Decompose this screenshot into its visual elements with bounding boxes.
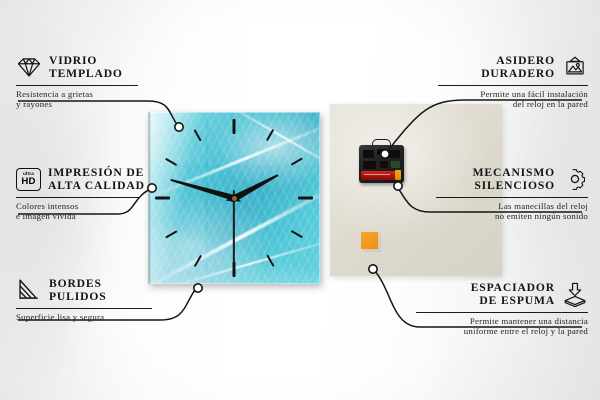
feature-subtitle-line2: uniforme entre el reloj y la pared	[416, 326, 588, 336]
feature-divider	[438, 85, 588, 86]
wire-endpoint-dot	[394, 182, 402, 190]
feature-subtitle-line1: Superficie lisa y segura	[16, 312, 166, 322]
feature-subtitle-line2: no emiten ningún sonido	[436, 211, 588, 221]
feature-subtitle: Las manecillas del reloj no emiten ningú…	[436, 201, 588, 222]
feature-title: IMPRESIÓN DE ALTA CALIDAD	[48, 166, 145, 193]
feature-title: ASIDERO DURADERO	[481, 54, 555, 81]
feature-divider	[16, 308, 152, 309]
hanging-picture-frame-icon	[562, 54, 588, 80]
feature-title-line1: BORDES	[49, 277, 107, 290]
feature-subtitle-line1: Permite mantener una distancia	[416, 316, 588, 326]
feature-title-line2: ALTA CALIDAD	[48, 179, 145, 192]
feature-subtitle: Superficie lisa y segura	[16, 312, 166, 322]
feature-bordes-pulidos: BORDES PULIDOS Superficie lisa y segura	[16, 277, 166, 322]
feature-subtitle-line2: y rayones	[16, 99, 154, 109]
feature-divider	[436, 197, 588, 198]
feature-espaciador-de-espuma: ESPACIADOR DE ESPUMA Permite mantener un…	[416, 281, 588, 337]
feature-title-line1: IMPRESIÓN DE	[48, 166, 145, 179]
feature-impresion-alta-calidad: ultra HD IMPRESIÓN DE ALTA CALIDAD Color…	[16, 166, 168, 222]
feature-subtitle: Colores intensos e imagen vívida	[16, 201, 168, 222]
feature-divider	[16, 85, 138, 86]
feature-title: ESPACIADOR DE ESPUMA	[471, 281, 555, 308]
feature-title-line2: SILENCIOSO	[473, 179, 555, 192]
feature-subtitle-line2: e imagen vívida	[16, 211, 168, 221]
gear-icon	[562, 166, 588, 192]
feature-heading: ESPACIADOR DE ESPUMA	[416, 281, 588, 308]
feature-title-line2: DE ESPUMA	[471, 294, 555, 307]
diagonal-lines-icon	[16, 277, 42, 303]
infographic-canvas: VIDRIO TEMPLADO Resistencia a grietas y …	[0, 0, 600, 400]
feature-subtitle-line1: Permite una fácil instalación	[438, 89, 588, 99]
feature-heading: VIDRIO TEMPLADO	[16, 54, 154, 81]
diamond-icon	[16, 54, 42, 80]
feature-title: BORDES PULIDOS	[49, 277, 107, 304]
feature-title-line2: PULIDOS	[49, 290, 107, 303]
feature-subtitle-line1: Las manecillas del reloj	[436, 201, 588, 211]
arrow-into-stack-icon	[562, 281, 588, 307]
wire-endpoint-dot	[369, 265, 377, 273]
wire-endpoint-dot	[175, 123, 183, 131]
feature-subtitle-line2: del reloj en la pared	[438, 99, 588, 109]
feature-subtitle: Permite mantener una distancia uniforme …	[416, 316, 588, 337]
feature-title: VIDRIO TEMPLADO	[49, 54, 123, 81]
feature-heading: MECANISMO SILENCIOSO	[436, 166, 588, 193]
feature-mecanismo-silencioso: MECANISMO SILENCIOSO Las manecillas del …	[436, 166, 588, 222]
feature-divider	[16, 197, 140, 198]
feature-heading: BORDES PULIDOS	[16, 277, 166, 304]
feature-subtitle: Resistencia a grietas y rayones	[16, 89, 154, 110]
feature-title-line1: VIDRIO	[49, 54, 123, 67]
feature-heading: ASIDERO DURADERO	[438, 54, 588, 81]
feature-title-line2: TEMPLADO	[49, 67, 123, 80]
feature-title-line1: ASIDERO	[481, 54, 555, 67]
feature-subtitle-line1: Resistencia a grietas	[16, 89, 154, 99]
feature-title: MECANISMO SILENCIOSO	[473, 166, 555, 193]
wire-endpoint-dot	[381, 150, 389, 158]
feature-title-line1: ESPACIADOR	[471, 281, 555, 294]
ultra-hd-badge-icon: ultra HD	[16, 168, 41, 191]
feature-subtitle: Permite una fácil instalación del reloj …	[438, 89, 588, 110]
feature-divider	[416, 312, 588, 313]
badge-main-label: HD	[21, 177, 35, 187]
feature-title-line1: MECANISMO	[473, 166, 555, 179]
feature-vidrio-templado: VIDRIO TEMPLADO Resistencia a grietas y …	[16, 54, 154, 110]
wire-endpoint-dot	[194, 284, 202, 292]
feature-subtitle-line1: Colores intensos	[16, 201, 168, 211]
feature-heading: ultra HD IMPRESIÓN DE ALTA CALIDAD	[16, 166, 168, 193]
feature-asidero-duradero: ASIDERO DURADERO Permite una fácil insta…	[438, 54, 588, 110]
feature-title-line2: DURADERO	[481, 67, 555, 80]
